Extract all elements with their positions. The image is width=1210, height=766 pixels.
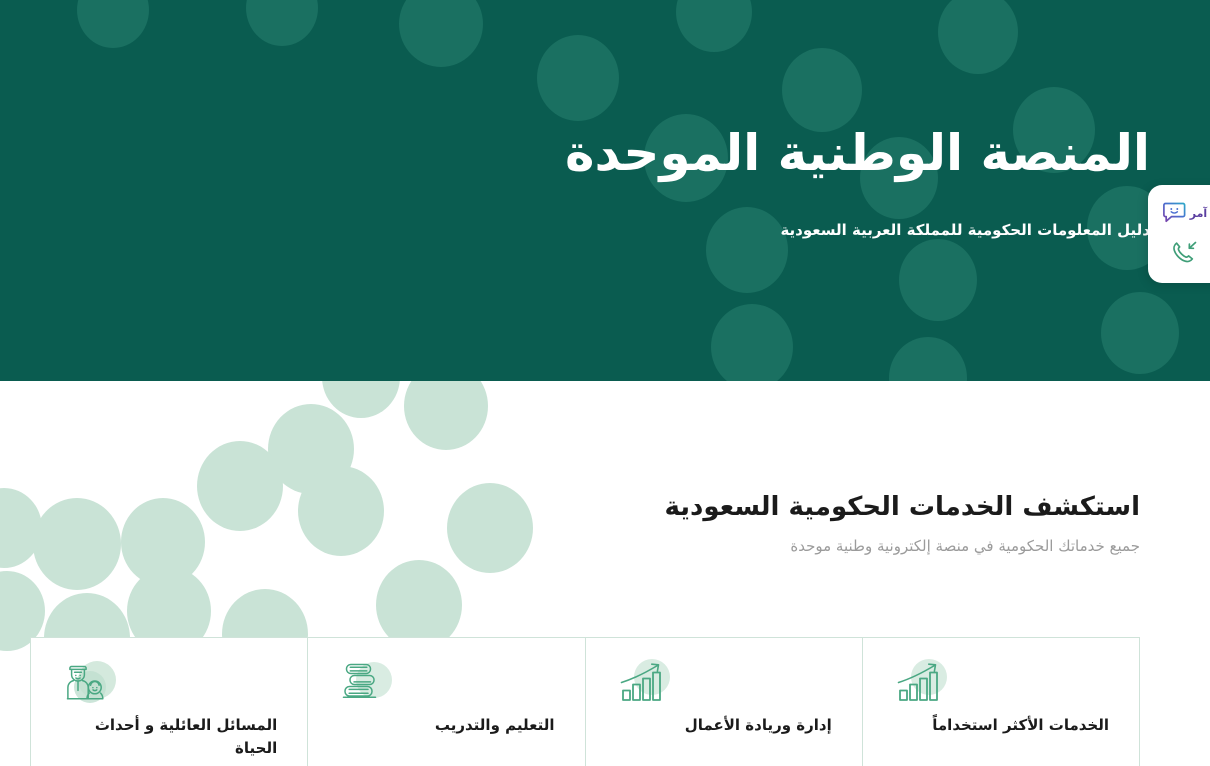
stacked-books-icon <box>326 656 398 708</box>
category-card-family-matters[interactable]: المسائل العائلية و أحداث الحياة <box>31 638 307 766</box>
category-card-education-training[interactable]: التعليم والتدريب <box>307 638 584 766</box>
chat-assistant-label: آمر <box>1190 208 1207 219</box>
chat-assistant-button[interactable]: آمر <box>1148 193 1210 234</box>
floating-assist-widget[interactable]: آمر <box>1148 185 1210 283</box>
request-callback-button[interactable] <box>1148 234 1210 275</box>
section-header: استكشف الخدمات الحكومية السعودية جميع خد… <box>664 491 1140 557</box>
hero-title: المنصة الوطنية الموحدة <box>510 124 1150 183</box>
chat-bubble-icon <box>1161 200 1187 228</box>
main-section: استكشف الخدمات الحكومية السعودية جميع خد… <box>0 381 1210 766</box>
category-card-label: التعليم والتدريب <box>326 714 554 737</box>
section-subtitle: جميع خدماتك الحكومية في منصة إلكترونية و… <box>664 535 1140 558</box>
section-title: استكشف الخدمات الحكومية السعودية <box>664 491 1140 525</box>
growth-bar-chart-icon <box>604 656 676 708</box>
family-couple-icon <box>49 656 121 708</box>
hero-banner: المنصة الوطنية الموحدة دليل المعلومات ال… <box>0 0 1210 381</box>
category-card-label: الخدمات الأكثر استخداماً <box>881 714 1109 737</box>
page-root: المنصة الوطنية الموحدة دليل المعلومات ال… <box>0 0 1210 766</box>
hero-subtitle: دليل المعلومات الحكومية للمملكة العربية … <box>510 220 1150 241</box>
category-card-most-used-services[interactable]: الخدمات الأكثر استخداماً <box>862 638 1139 766</box>
service-category-grid: المسائل العائلية و أحداث الحياة <box>30 637 1140 766</box>
growth-bar-chart-icon <box>881 656 953 708</box>
category-card-business-entrepreneurship[interactable]: إدارة وريادة الأعمال <box>585 638 862 766</box>
phone-callback-icon <box>1169 239 1199 271</box>
hero-text-block: المنصة الوطنية الموحدة دليل المعلومات ال… <box>510 0 1150 381</box>
category-card-label: إدارة وريادة الأعمال <box>604 714 832 737</box>
category-card-label: المسائل العائلية و أحداث الحياة <box>49 714 277 759</box>
